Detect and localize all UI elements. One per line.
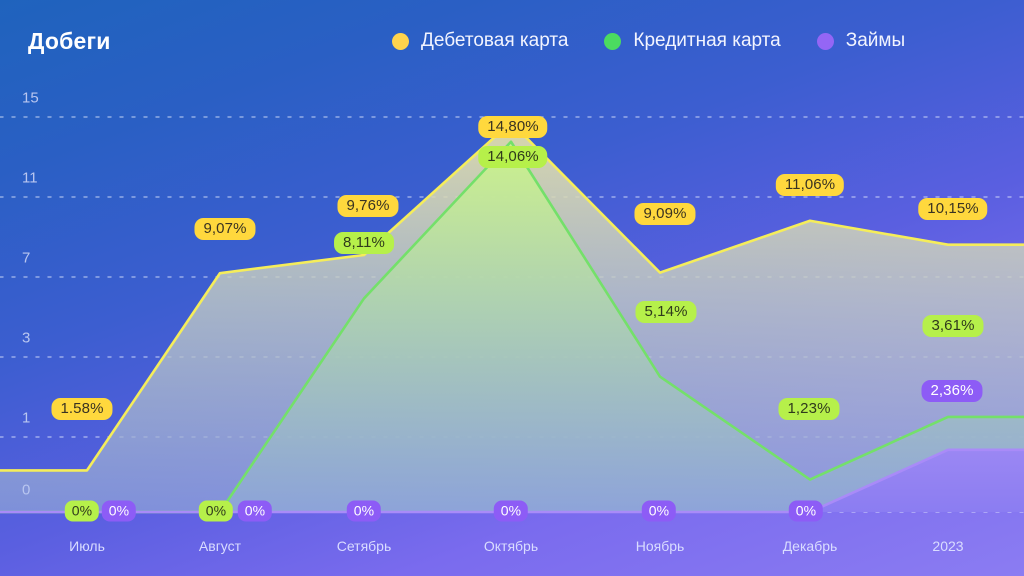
legend-label-loan: Займы (846, 30, 905, 52)
legend-item-loan[interactable]: Займы (817, 30, 905, 52)
legend-dot-credit (604, 33, 621, 50)
value-badge-debit[interactable]: 10,15% (918, 198, 987, 220)
value-badge-loan[interactable]: 0% (789, 501, 823, 522)
value-badge-loan[interactable]: 0% (642, 501, 676, 522)
chart-plot-area (0, 0, 1024, 576)
legend-item-debit[interactable]: Дебетовая карта (392, 30, 568, 52)
value-badge-debit[interactable]: 11,06% (776, 174, 844, 196)
value-badge-credit[interactable]: 14,06% (478, 146, 547, 168)
x-axis-tick: Июль (69, 538, 105, 554)
value-badge-credit[interactable]: 3,61% (922, 315, 983, 337)
legend-item-credit[interactable]: Кредитная карта (604, 30, 780, 52)
value-badge-credit[interactable]: 1,23% (778, 398, 839, 420)
legend-label-debit: Дебетовая карта (421, 30, 568, 52)
value-badge-loan[interactable]: 0% (238, 501, 272, 522)
page-title: Добеги (28, 28, 111, 55)
chart-legend: Дебетовая карта Кредитная карта Займы (392, 30, 905, 52)
value-badge-debit[interactable]: 14,80% (478, 116, 547, 138)
x-axis-tick: Ноябрь (636, 538, 685, 554)
x-axis-tick: Октябрь (484, 538, 538, 554)
legend-dot-debit (392, 33, 409, 50)
value-badge-credit[interactable]: 0% (65, 501, 99, 522)
x-axis-tick: Декабрь (783, 538, 838, 554)
value-badge-loan[interactable]: 0% (494, 501, 528, 522)
value-badge-loan[interactable]: 0% (347, 501, 381, 522)
value-badge-debit[interactable]: 9,76% (337, 195, 398, 217)
x-axis-tick: 2023 (932, 538, 963, 554)
x-axis-tick: Сетябрь (337, 538, 392, 554)
value-badge-credit[interactable]: 8,11% (334, 232, 394, 254)
legend-dot-loan (817, 33, 834, 50)
legend-label-credit: Кредитная карта (633, 30, 780, 52)
value-badge-debit[interactable]: 9,07% (194, 218, 255, 240)
value-badge-debit[interactable]: 1.58% (51, 398, 112, 420)
value-badge-loan[interactable]: 0% (102, 501, 136, 522)
value-badge-credit[interactable]: 5,14% (635, 301, 696, 323)
value-badge-debit[interactable]: 9,09% (634, 203, 695, 225)
chart-svg (0, 0, 1024, 576)
x-axis-tick: Август (199, 538, 241, 554)
chart-screen: Добеги Дебетовая карта Кредитная карта З… (0, 0, 1024, 576)
value-badge-loan[interactable]: 2,36% (921, 380, 982, 402)
value-badge-credit[interactable]: 0% (199, 501, 233, 522)
